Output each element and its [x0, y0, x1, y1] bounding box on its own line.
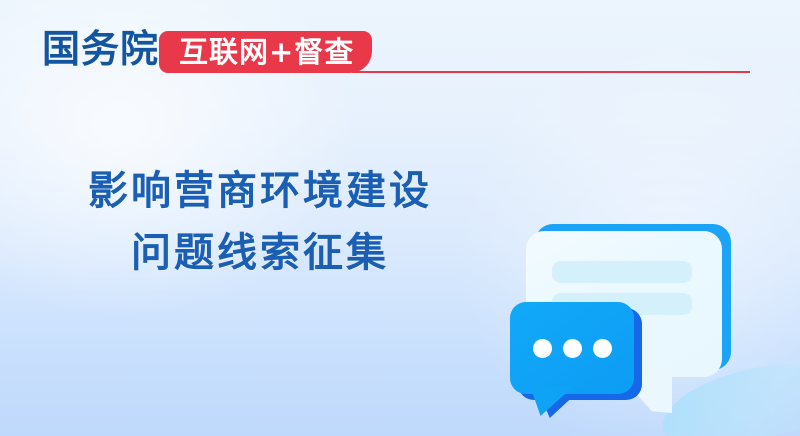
banner-header: 国务院 互联网+督查 — [0, 0, 800, 92]
typing-dots-group — [510, 302, 634, 394]
typing-dot-2 — [563, 339, 582, 358]
promo-banner: 国务院 互联网+督查 影响营商环境建设 问题线索征集 — [0, 0, 800, 436]
typing-dot-3 — [593, 339, 612, 358]
typing-dot-1 — [533, 339, 552, 358]
header-divider-rule — [352, 71, 750, 73]
headline-line-2: 问题线索征集 — [0, 222, 520, 284]
internet-plus-supervision-badge: 互联网+督查 — [159, 31, 372, 73]
state-council-label: 国务院 — [42, 26, 159, 72]
headline-line-1: 影响营商环境建设 — [0, 160, 520, 222]
badge-label: 互联网+督查 — [179, 37, 354, 67]
bubble-text-line-1 — [552, 261, 692, 283]
chat-bubbles-illustration — [490, 214, 790, 436]
page-title: 影响营商环境建设 问题线索征集 — [0, 160, 520, 284]
